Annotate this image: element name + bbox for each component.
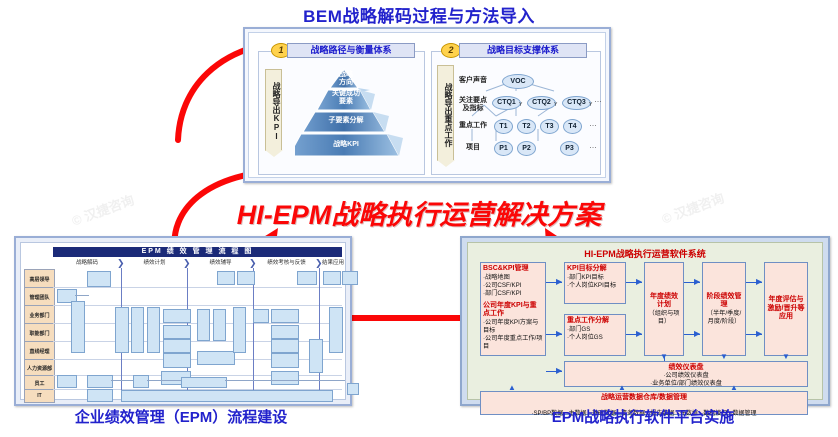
tree-node-p2: P2: [517, 141, 536, 156]
strategy-to-keytask-arrow: 战略导出重点工作: [437, 65, 454, 161]
process-box: [133, 375, 149, 388]
tree-row-label-4: 项目: [456, 144, 490, 152]
block-bsc-kpi-item-1: ·战略地图: [483, 274, 543, 282]
pyramid-level-1: 战略方向: [329, 71, 363, 87]
block-bsc-kpi-item-3: ·部门CSF/KPI: [483, 290, 543, 298]
process-box: [233, 307, 246, 353]
block-annual-eval: 年度评估与激励/晋升等应用: [764, 262, 808, 356]
process-box: [163, 325, 191, 339]
process-box: [217, 271, 235, 285]
block-bsc-kpi-item-2: ·公司CSF/KPI: [483, 282, 543, 290]
process-box: [131, 307, 144, 353]
process-box: [163, 339, 191, 353]
process-box: [197, 351, 235, 365]
process-box: [271, 325, 299, 339]
caption-epm-process: 企业绩效管理（EPM）流程建设: [0, 406, 362, 427]
flow-arrow: ▶: [636, 330, 642, 338]
tree-row-label-1: 客户声音: [456, 77, 490, 85]
process-box: [163, 309, 191, 323]
block-bsc-kpi: BSC&KPI管理 ·战略地图 ·公司CSF/KPI ·部门CSF/KPI 公司…: [480, 262, 546, 356]
block-annual-kpi-item-1: ·公司年度KPI方案与目标: [483, 319, 543, 335]
block-kpi-breakdown-item-2: ·个人岗位KPI目标: [567, 282, 623, 290]
strategy-to-kpi-arrow: 战略导出KPI: [265, 69, 282, 151]
phase-label-2: 绩效计划: [126, 258, 183, 268]
data-warehouse-head: 战略运营数据仓库/数据管理: [481, 393, 807, 402]
block-task-breakdown-head: 重点工作分解: [567, 317, 623, 326]
process-box: [237, 271, 255, 285]
up-arrow: ▲: [730, 384, 738, 392]
top-section-title: BEM战略解码过程与方法导入: [0, 2, 838, 27]
process-box: [342, 271, 358, 285]
pyramid-level-4: 战略KPI: [313, 141, 379, 149]
epm-process-inner: EPM 绩 效 管 理 流 程 图 战略解码 ❯ 绩效计划 ❯ 绩效辅导 ❯ 绩…: [20, 242, 346, 400]
flow-arrow: ▶: [756, 278, 762, 286]
process-box: [147, 307, 160, 353]
process-box: [87, 389, 113, 402]
ctq3-y-label: Y: [589, 102, 592, 108]
swimlane-label-2: 管理团队: [24, 287, 55, 307]
block-annual-plan-item-1: （组织与项目）: [647, 310, 681, 326]
process-box: [87, 375, 113, 388]
swimlane-label-4: 职能部门: [24, 323, 55, 343]
section-number-2: 2: [441, 43, 461, 58]
tree-node-t3: T3: [540, 119, 559, 134]
tree-node-p3: P3: [560, 141, 579, 156]
connector-line: [75, 295, 89, 296]
tree-node-ctq2: CTQ2: [527, 96, 556, 110]
process-box: [197, 309, 210, 341]
epm-flowchart-title: EPM 绩 效 管 理 流 程 图: [53, 247, 342, 257]
process-box: [71, 301, 85, 353]
phase-divider: [253, 268, 254, 396]
dashboard-item-1: ·公司绩效仪表盘: [565, 372, 807, 380]
flow-arrow: ▶: [556, 367, 562, 375]
strategy-path-header: 战略路径与衡量体系: [287, 43, 415, 58]
swimlane-label-3: 业务部门: [24, 305, 55, 325]
tree-node-t2: T2: [517, 119, 536, 134]
phase-label-1: 战略解码: [57, 258, 117, 268]
flow-arrow: ▶: [636, 278, 642, 286]
swimlane-label-1: 高层领导: [24, 269, 55, 289]
swimlane-divider: [53, 287, 342, 288]
phase-label-3: 绩效辅导: [192, 258, 249, 268]
swimlane-divider: [53, 305, 342, 306]
process-box: [347, 383, 359, 395]
block-annual-plan: 年度绩效计划 （组织与项目）: [644, 262, 684, 356]
tree-node-p1: P1: [494, 141, 513, 156]
strategy-support-header: 战略目标支撑体系: [459, 43, 587, 58]
process-box: [271, 353, 299, 368]
process-box: [309, 339, 323, 373]
block-stage-mgmt-item-1: （半年/季度/月度/阶段）: [705, 310, 743, 326]
process-box: [181, 377, 227, 388]
process-box: [121, 390, 333, 402]
phase-chevron-2: ❯: [183, 258, 192, 268]
process-box: [271, 339, 299, 353]
down-arrow: ▼: [660, 353, 668, 361]
bem-panel-inner: 1 战略路径与衡量体系 战略导出KPI 战略方向 关键成功要素 子要素分: [248, 32, 606, 178]
connector-line: [111, 380, 133, 381]
flow-arrow: ▶: [694, 278, 700, 286]
down-arrow: ▼: [782, 353, 790, 361]
tree-node-ctq1: CTQ1: [492, 96, 521, 110]
down-arrow: ▼: [720, 353, 728, 361]
up-arrow: ▲: [508, 384, 516, 392]
process-box: [271, 371, 299, 385]
connector-line: [225, 380, 345, 381]
flow-arrow: ▶: [556, 278, 562, 286]
ctq2-y-label: Y: [554, 102, 557, 108]
phase-chevron-3: ❯: [249, 258, 258, 268]
task-ellipsis: …: [589, 119, 597, 128]
block-kpi-breakdown: KPI目标分解 ·部门KPI目标 ·个人岗位KPI目标: [564, 262, 626, 304]
process-box: [57, 375, 77, 388]
block-annual-plan-head: 年度绩效计划: [647, 293, 681, 310]
process-box: [297, 271, 317, 285]
up-arrow: ▲: [618, 384, 626, 392]
tree-node-voc: VOC: [502, 74, 534, 89]
software-system-title: HI-EPM战略执行运营软件系统: [468, 247, 822, 260]
block-annual-kpi-head: 公司年度KPI与重点工作: [483, 302, 543, 319]
connector-line: [147, 380, 181, 381]
block-task-breakdown: 重点工作分解 ·部门GS ·个人岗位GS: [564, 314, 626, 356]
solution-main-title: HI-EPM战略执行运营解决方案: [0, 193, 838, 232]
process-box: [329, 307, 343, 353]
tree-node-t1: T1: [494, 119, 513, 134]
tree-node-t4: T4: [563, 119, 582, 134]
ctq-ellipsis: …: [594, 95, 602, 104]
process-box: [87, 271, 111, 287]
pyramid-level-3: 子要素分解: [317, 117, 375, 125]
phase-label-4: 绩效考核与反馈: [258, 258, 315, 268]
swimlane-label-8: IT: [24, 389, 55, 403]
block-task-breakdown-item-2: ·个人岗位GS: [567, 334, 623, 342]
process-box: [115, 307, 129, 353]
bem-decoding-panel: 1 战略路径与衡量体系 战略导出KPI 战略方向 关键成功要素 子要素分: [243, 27, 611, 183]
block-bsc-kpi-head: BSC&KPI管理: [483, 265, 543, 274]
caption-epm-software: EPM战略执行软件平台实施: [460, 406, 826, 427]
epm-software-inner: HI-EPM战略执行运营软件系统 BSC&KPI管理 ·战略地图 ·公司CSF/…: [467, 242, 823, 400]
block-annual-kpi-item-2: ·公司年度重点工作/项目: [483, 335, 543, 351]
block-annual-eval-head: 年度评估与激励/晋升等应用: [767, 296, 805, 322]
flow-arrow: ▶: [556, 330, 562, 338]
block-stage-mgmt: 阶段绩效管理 （半年/季度/月度/阶段）: [702, 262, 746, 356]
block-kpi-breakdown-head: KPI目标分解: [567, 265, 623, 274]
block-task-breakdown-item-1: ·部门GS: [567, 326, 623, 334]
flow-arrow: ▶: [756, 330, 762, 338]
block-stage-mgmt-head: 阶段绩效管理: [705, 293, 743, 310]
phase-label-5: 结果应用: [321, 258, 345, 268]
process-box: [323, 271, 341, 285]
process-box: [163, 353, 191, 368]
epm-software-panel: HI-EPM战略执行运营软件系统 BSC&KPI管理 ·战略地图 ·公司CSF/…: [460, 236, 830, 406]
process-box: [271, 309, 299, 323]
ctq1-y-label: Y: [519, 102, 522, 108]
tree-node-ctq3: CTQ3: [562, 96, 591, 110]
swimlane-label-5: 直线经理: [24, 341, 55, 361]
dashboard-item-2: ·业务单位/部门绩效仪表盘: [565, 380, 807, 388]
project-ellipsis: …: [589, 141, 597, 150]
flow-arrow: ▶: [694, 330, 700, 338]
process-box: [253, 309, 269, 323]
pyramid-level-2: 关键成功要素: [323, 90, 369, 106]
phase-chevron-1: ❯: [117, 258, 126, 268]
dashboard-head: 绩效仪表盘: [565, 363, 807, 372]
tree-row-label-2: 关注要点及指标: [456, 97, 490, 113]
epm-process-panel: EPM 绩 效 管 理 流 程 图 战略解码 ❯ 绩效计划 ❯ 绩效辅导 ❯ 绩…: [14, 236, 352, 406]
phase-divider: [319, 268, 320, 396]
block-dashboard: 绩效仪表盘 ·公司绩效仪表盘 ·业务单位/部门绩效仪表盘: [564, 361, 808, 387]
tree-row-label-3: 重点工作: [456, 122, 490, 130]
process-box: [213, 309, 226, 341]
block-kpi-breakdown-item-1: ·部门KPI目标: [567, 274, 623, 282]
